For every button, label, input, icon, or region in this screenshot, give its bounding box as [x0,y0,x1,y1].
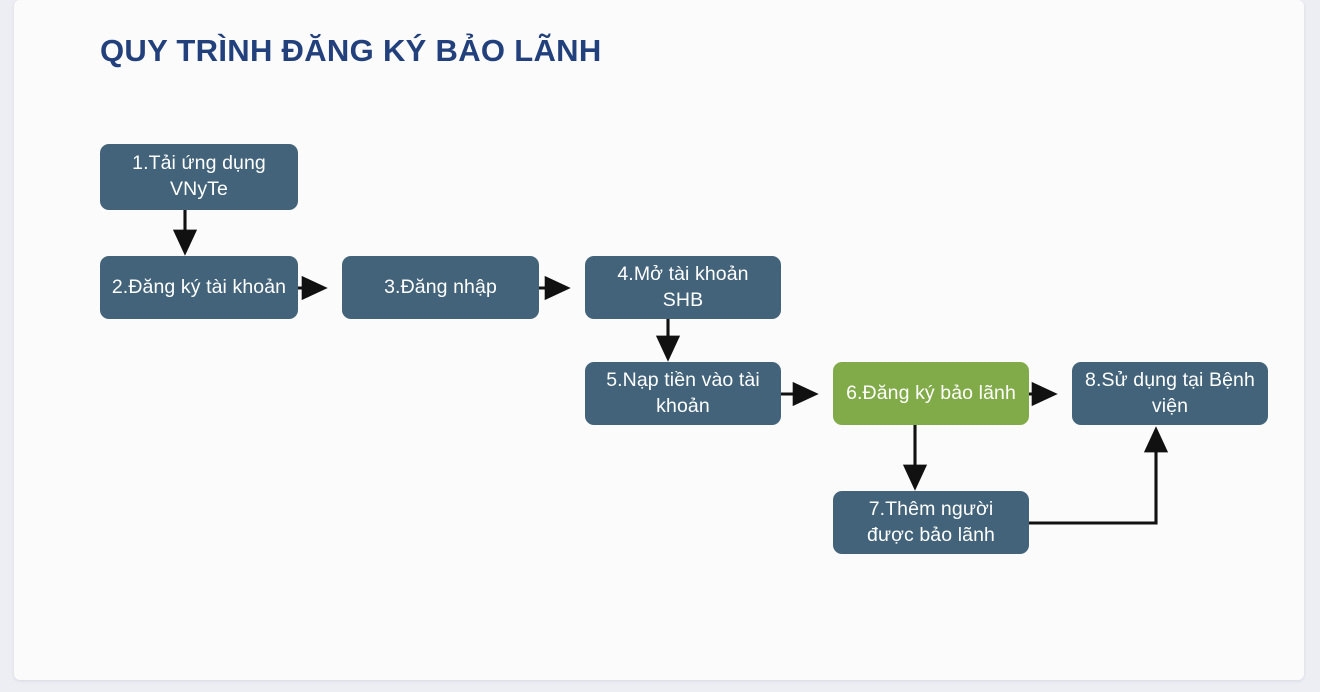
flow-node-5[interactable]: 5.Nạp tiền vào tài khoản [585,362,781,425]
flow-node-6-label: 6.Đăng ký bảo lãnh [846,381,1016,407]
flow-node-8-label: 8.Sử dụng tại Bệnh viện [1082,368,1258,419]
flow-node-5-label: 5.Nạp tiền vào tài khoản [595,368,771,419]
connector-layer [14,0,1304,680]
flow-node-7[interactable]: 7.Thêm người được bảo lãnh [833,491,1029,554]
flow-node-4-label: 4.Mở tài khoản SHB [595,262,771,313]
slide-card: QUY TRÌNH ĐĂNG KÝ BẢO LÃNH 1.Tải ứng dụn… [14,0,1304,680]
flow-node-2-label: 2.Đăng ký tài khoản [112,275,286,301]
flow-node-2[interactable]: 2.Đăng ký tài khoản [100,256,298,319]
flow-node-7-label: 7.Thêm người được bảo lãnh [843,497,1019,548]
flow-node-3[interactable]: 3.Đăng nhập [342,256,539,319]
flow-node-1-label: 1.Tải ứng dụng VNyTe [110,151,288,202]
flow-node-3-label: 3.Đăng nhập [384,275,497,301]
flow-node-8[interactable]: 8.Sử dụng tại Bệnh viện [1072,362,1268,425]
flow-node-4[interactable]: 4.Mở tài khoản SHB [585,256,781,319]
edge-7-to-8 [1015,430,1156,523]
flow-node-6[interactable]: 6.Đăng ký bảo lãnh [833,362,1029,425]
flowchart: 1.Tải ứng dụng VNyTe 2.Đăng ký tài khoản… [14,0,1304,680]
flow-node-1[interactable]: 1.Tải ứng dụng VNyTe [100,144,298,210]
